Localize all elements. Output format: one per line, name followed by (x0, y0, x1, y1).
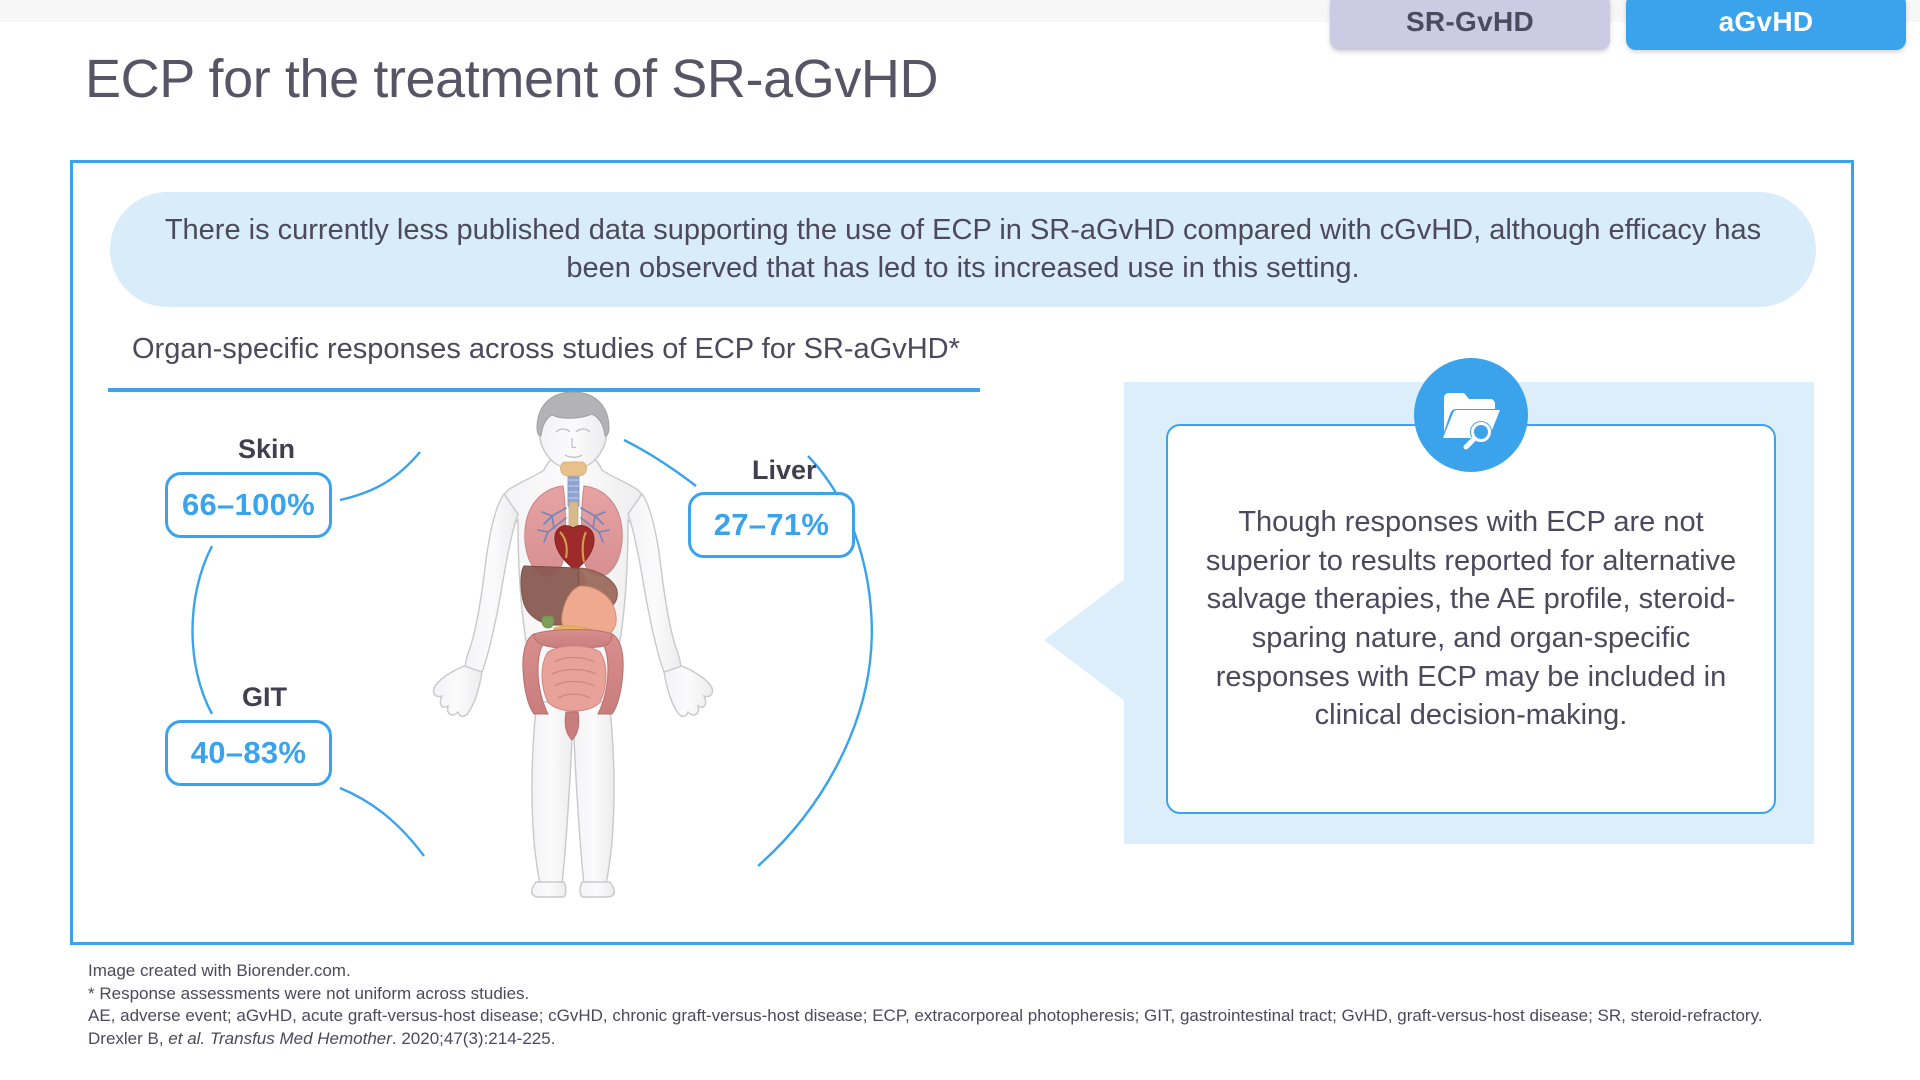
tab-agvhd-label: aGvHD (1719, 6, 1814, 38)
callout-text: Though responses with ECP are not superi… (1202, 503, 1740, 734)
summary-banner: There is currently less published data s… (110, 192, 1816, 307)
organ-value-skin: 66–100% (165, 472, 332, 538)
callout-arrow (1044, 578, 1126, 702)
footnote-biorender: Image created with Biorender.com. (88, 960, 1763, 983)
citation-details: . 2020;47(3):214-225. (392, 1029, 556, 1048)
organ-label-skin: Skin (238, 434, 295, 465)
human-body-anatomy-illustration (408, 390, 738, 900)
organ-value-git-text: 40–83% (191, 735, 307, 771)
summary-banner-text: There is currently less published data s… (160, 212, 1766, 286)
organ-response-diagram: Skin 66–100% GIT 40–83% Liver 27–71% (108, 400, 1128, 910)
footnote-abbreviations: AE, adverse event; aGvHD, acute graft-ve… (88, 1005, 1763, 1028)
organ-value-git: 40–83% (165, 720, 332, 786)
organ-label-git: GIT (242, 682, 287, 713)
citation-journal: et al. Transfus Med Hemother (168, 1029, 392, 1048)
footnotes: Image created with Biorender.com. * Resp… (88, 960, 1763, 1050)
organ-value-liver-text: 27–71% (714, 507, 830, 543)
tab-sr-gvhd-label: SR-GvHD (1406, 6, 1534, 38)
tab-bar: SR-GvHD aGvHD (1330, 0, 1906, 50)
footnote-asterisk: * Response assessments were not uniform … (88, 983, 1763, 1006)
section-heading: Organ-specific responses across studies … (132, 333, 960, 366)
callout-box: Though responses with ECP are not superi… (1166, 424, 1776, 814)
tab-agvhd[interactable]: aGvHD (1626, 0, 1906, 50)
folder-search-icon (1414, 358, 1528, 472)
citation-author: Drexler B, (88, 1029, 168, 1048)
page-title: ECP for the treatment of SR-aGvHD (85, 48, 938, 110)
footnote-citation: Drexler B, et al. Transfus Med Hemother.… (88, 1028, 1763, 1051)
organ-label-liver: Liver (752, 455, 817, 486)
organ-value-skin-text: 66–100% (182, 487, 315, 523)
tab-sr-gvhd[interactable]: SR-GvHD (1330, 0, 1610, 50)
organ-value-liver: 27–71% (688, 492, 855, 558)
